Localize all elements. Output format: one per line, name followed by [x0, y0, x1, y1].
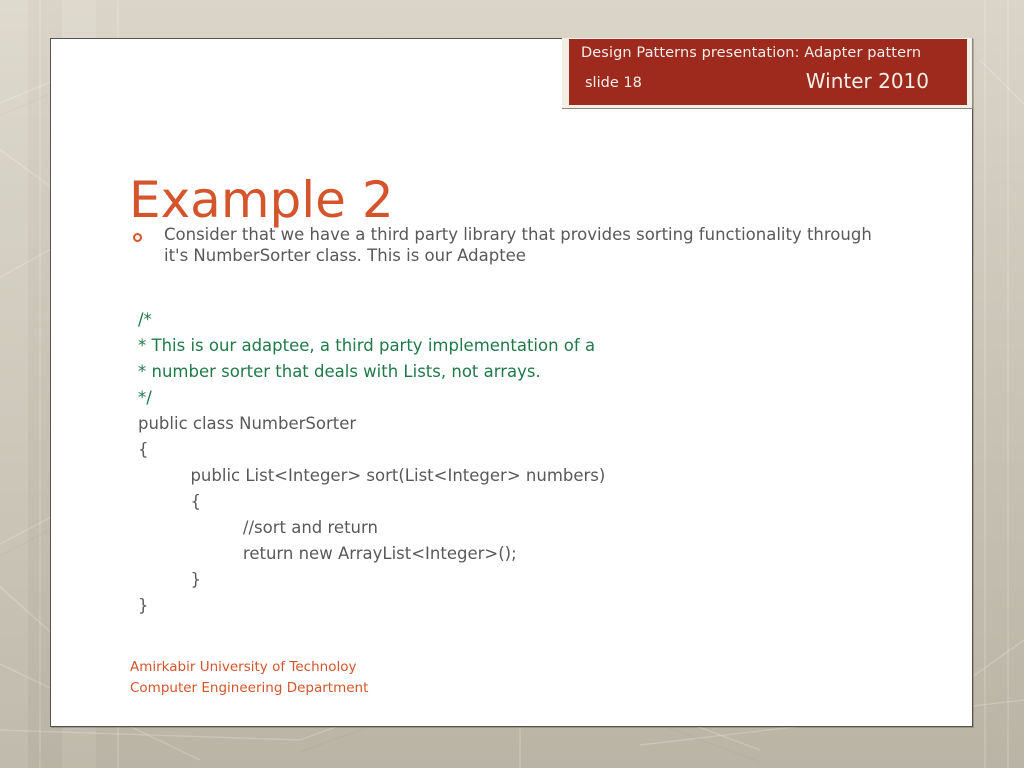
slide-footer: Amirkabir University of Technoloy Comput… [130, 657, 368, 699]
bullet-list-item: Consider that we have a third party libr… [133, 225, 893, 267]
slide-canvas: Design Patterns presentation: Adapter pa… [50, 38, 973, 727]
page-title: Example 2 [129, 174, 394, 227]
slide-number: slide 18 [585, 75, 642, 91]
ring-bullet-icon [133, 233, 142, 242]
code-line: public List<Integer> sort(List<Integer> … [138, 463, 938, 489]
code-line: return new ArrayList<Integer>(); [138, 541, 938, 567]
bullet-item-text: Consider that we have a third party libr… [164, 225, 893, 267]
footer-department: Computer Engineering Department [130, 678, 368, 699]
code-line: } [138, 567, 938, 593]
code-line: //sort and return [138, 515, 938, 541]
code-line: * This is our adaptee, a third party imp… [138, 333, 938, 359]
code-line: public class NumberSorter [138, 411, 938, 437]
presentation-title: Design Patterns presentation: Adapter pa… [581, 45, 921, 61]
code-line: * number sorter that deals with Lists, n… [138, 359, 938, 385]
footer-university: Amirkabir University of Technoloy [130, 657, 368, 678]
code-line: /* [138, 307, 938, 333]
presentation-term: Winter 2010 [806, 69, 929, 93]
code-line: } [138, 593, 938, 619]
code-line: { [138, 437, 938, 463]
header-banner: Design Patterns presentation: Adapter pa… [569, 39, 967, 105]
code-listing: /** This is our adaptee, a third party i… [138, 307, 938, 619]
code-line: { [138, 489, 938, 515]
code-line: */ [138, 385, 938, 411]
